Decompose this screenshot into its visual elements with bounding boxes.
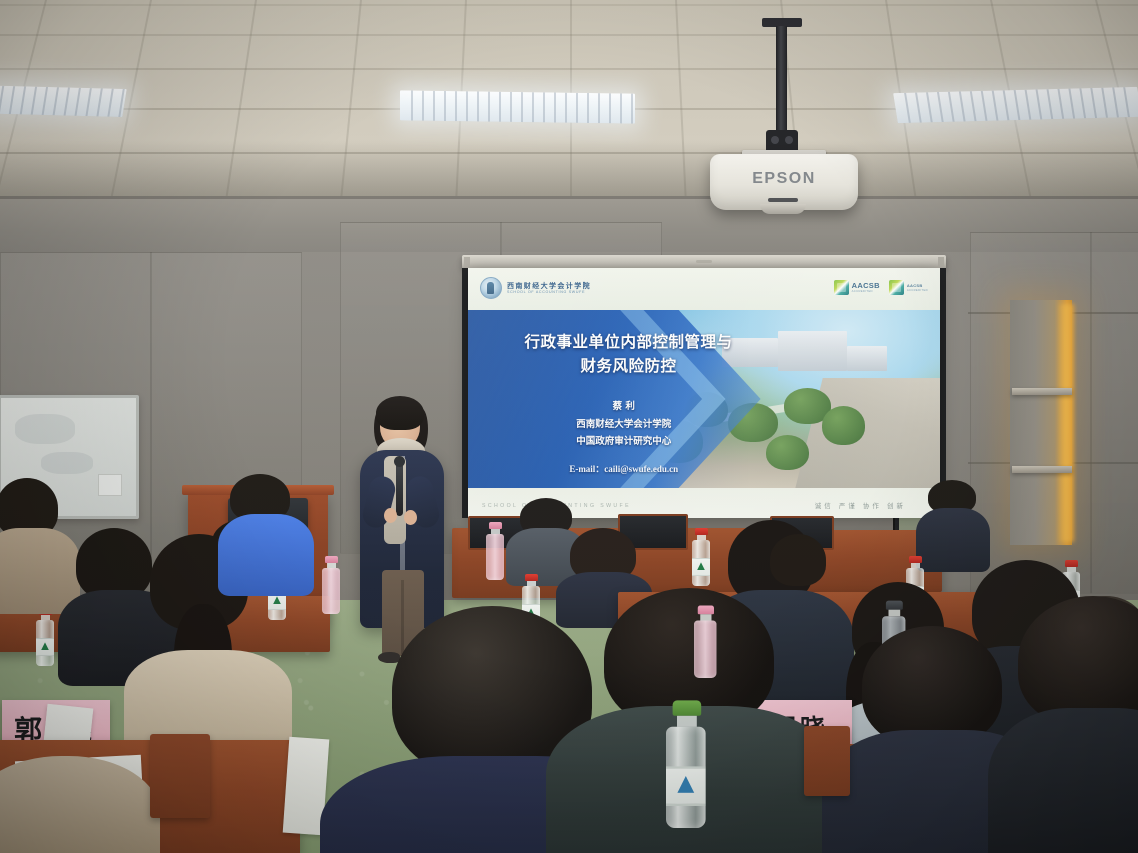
lecture-hall-photo: EPSON bbox=[0, 0, 1138, 853]
screen-housing-marker bbox=[696, 260, 712, 263]
tumbler-body bbox=[486, 534, 504, 580]
niche-shelf bbox=[1012, 388, 1072, 395]
pink-tumbler bbox=[486, 522, 504, 580]
whiteboard-smudge bbox=[41, 452, 93, 474]
projector-vent bbox=[768, 198, 798, 202]
soffit-edge bbox=[0, 196, 1138, 199]
accent-light-strip bbox=[1058, 304, 1074, 542]
bottle-body bbox=[36, 620, 54, 666]
presenter-hand-left bbox=[384, 508, 397, 523]
audience-torso bbox=[218, 514, 314, 596]
screen-housing-endcap bbox=[938, 257, 944, 267]
screen-housing-endcap bbox=[464, 257, 470, 267]
bottle-label bbox=[666, 767, 706, 806]
aacsb-subtitle: ACCREDITED bbox=[907, 288, 928, 292]
whiteboard-note bbox=[98, 474, 122, 496]
aacsb-name: AACSB bbox=[852, 282, 880, 290]
slide-title-line-1: 行政事业单位内部控制管理与 bbox=[487, 330, 770, 354]
ceiling-light-panel-right bbox=[893, 87, 1138, 123]
logo-english-name: SCHOOL OF ACCOUNTING SWUFE bbox=[507, 290, 591, 294]
slide-footer-right: 诚信 严谨 协作 创新 bbox=[815, 500, 906, 510]
projector-body: EPSON bbox=[710, 154, 858, 210]
water-bottle bbox=[36, 608, 54, 666]
aacsb-subtitle: ACCREDITED bbox=[852, 289, 880, 293]
bottle-cap bbox=[695, 528, 708, 535]
aacsb-mark-icon bbox=[889, 280, 904, 295]
ceiling-light-panel-left bbox=[0, 83, 127, 117]
university-seal-icon bbox=[480, 277, 502, 299]
slide-title: 行政事业单位内部控制管理与 财务风险防控 bbox=[487, 330, 770, 378]
water-bottle bbox=[692, 528, 710, 586]
tumbler-cap bbox=[489, 522, 502, 529]
ceiling bbox=[0, 0, 1138, 205]
slide-presenter-name: 蔡 利 bbox=[496, 398, 751, 416]
water-bottle bbox=[666, 700, 706, 828]
audience-hair bbox=[862, 626, 1002, 746]
audience-member-foreground bbox=[0, 756, 160, 853]
bottle-cap bbox=[525, 574, 538, 581]
bottle-cap bbox=[672, 700, 701, 715]
whiteboard-smudge bbox=[15, 414, 75, 444]
flask-cap bbox=[885, 601, 902, 610]
tumbler-cap bbox=[697, 606, 713, 615]
bottle-neck bbox=[676, 716, 696, 727]
microphone bbox=[396, 462, 403, 516]
aacsb-mark-icon bbox=[834, 280, 849, 295]
pink-tumbler bbox=[694, 606, 717, 679]
projector-lens bbox=[760, 204, 806, 214]
projector-mount-pole bbox=[776, 26, 787, 138]
bottle-label bbox=[692, 558, 710, 576]
audience-member bbox=[222, 474, 312, 594]
wall-panel bbox=[1090, 232, 1138, 594]
projection-screen: 西南财经大学会计学院 SCHOOL OF ACCOUNTING SWUFE AA… bbox=[468, 268, 940, 518]
bottle-cap bbox=[909, 556, 922, 563]
slide-header-band: 西南财经大学会计学院 SCHOOL OF ACCOUNTING SWUFE AA… bbox=[468, 268, 940, 310]
bottle-body bbox=[692, 540, 710, 586]
audience-hair bbox=[1018, 596, 1138, 726]
tumbler-body bbox=[694, 621, 717, 679]
aacsb-logo-secondary: AACSB ACCREDITED bbox=[889, 280, 928, 295]
slide-institution-logo: 西南财经大学会计学院 SCHOOL OF ACCOUNTING SWUFE bbox=[480, 277, 591, 299]
chair-back bbox=[804, 726, 850, 796]
tumbler-cap bbox=[325, 556, 338, 563]
niche-shelf bbox=[1012, 466, 1072, 473]
slide-presenter-block: 蔡 利 西南财经大学会计学院 中国政府审计研究中心 bbox=[496, 398, 751, 451]
audience-member-foreground bbox=[1008, 596, 1138, 853]
bottle-body bbox=[666, 727, 706, 828]
presenter-hair bbox=[376, 396, 424, 430]
audience-hair bbox=[770, 534, 826, 586]
aacsb-logo-primary: AACSB ACCREDITED bbox=[834, 280, 880, 295]
slide-affiliation-2: 中国政府审计研究中心 bbox=[496, 433, 751, 451]
accreditation-logos: AACSB ACCREDITED AACSB ACCREDITED bbox=[834, 280, 928, 295]
slide-main-area: 行政事业单位内部控制管理与 财务风险防控 蔡 利 西南财经大学会计学院 中国政府… bbox=[468, 310, 940, 488]
presenter-hand-right bbox=[404, 510, 417, 525]
ceiling-light-panel-center bbox=[400, 90, 635, 123]
audience-torso bbox=[988, 708, 1138, 853]
bottle-label bbox=[36, 638, 54, 656]
audience-torso bbox=[0, 756, 160, 853]
projector-assembly: EPSON bbox=[740, 18, 860, 198]
projection-screen-housing bbox=[462, 255, 946, 269]
projector-brand-label: EPSON bbox=[710, 170, 858, 188]
logo-chinese-name: 西南财经大学会计学院 bbox=[507, 282, 591, 290]
slide-email: E-mail：caili@swufe.edu.cn bbox=[496, 462, 751, 475]
chair-back bbox=[150, 734, 210, 818]
slide-title-line-2: 财务风险防控 bbox=[487, 354, 770, 378]
audience-member bbox=[916, 480, 990, 566]
slide-affiliation-1: 西南财经大学会计学院 bbox=[496, 416, 751, 434]
